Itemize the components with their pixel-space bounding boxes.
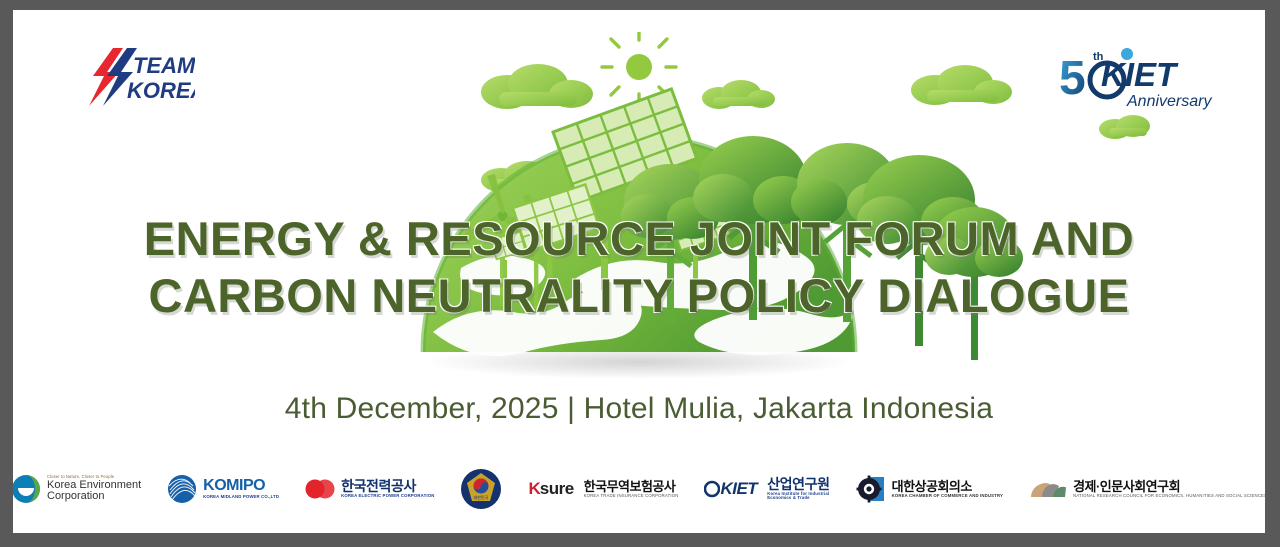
cloud-icon	[1099, 115, 1150, 139]
korea-government-emblem-icon: 대한민국	[460, 468, 502, 510]
cloud-icon	[481, 64, 593, 109]
sponsor-subtitle: KOREA MIDLAND POWER CO.,LTD	[203, 495, 279, 500]
komipo-mark-icon	[167, 474, 197, 504]
sponsor-name-line2: Corporation	[47, 491, 141, 503]
sponsor-logo-korea-environment-corporation: Closer to Nature, Closer to People Korea…	[13, 467, 141, 511]
event-banner: TEAM KOREA 5 th KIET Anniversary	[13, 10, 1265, 533]
sponsor-logo-strip: Closer to Nature, Closer to People Korea…	[13, 467, 1265, 511]
sponsor-logo-korea-government-emblem: 대한민국	[460, 467, 502, 511]
korcham-mark-icon	[856, 474, 886, 504]
cloud-icon	[481, 161, 564, 192]
screenshot-root: TEAM KOREA 5 th KIET Anniversary	[0, 0, 1280, 547]
globe-shadow	[424, 345, 854, 379]
sponsor-logo-komipo: KOMIPO KOREA MIDLAND POWER CO.,LTD	[167, 467, 279, 511]
sponsor-subtitle-line2: Economics & Trade	[767, 496, 829, 501]
sponsor-name: KIET	[720, 479, 757, 499]
sponsor-subtitle: NATIONAL RESEARCH COUNCIL FOR ECONOMICS,…	[1073, 494, 1265, 499]
sponsor-name-ko: 대한상공회의소	[892, 480, 1003, 494]
svg-text:Anniversary: Anniversary	[1126, 93, 1212, 110]
event-title-line-2: CARBON NEUTRALITY POLICY DIALOGUE	[13, 267, 1265, 324]
svg-text:5: 5	[1059, 52, 1086, 105]
sponsor-name-ko: 경제·인문사회연구회	[1073, 480, 1265, 494]
cloud-icon	[911, 65, 1012, 105]
ksure-k-letter: K	[528, 479, 539, 499]
nrc-mark-icon	[1029, 477, 1067, 501]
sponsor-logo-korcham: 대한상공회의소 KOREA CHAMBER OF COMMERCE AND IN…	[856, 467, 1003, 511]
svg-text:TEAM: TEAM	[133, 53, 195, 78]
svg-text:KIET: KIET	[1101, 56, 1179, 93]
kiet-anniversary-logo: 5 th KIET Anniversary	[1055, 42, 1225, 112]
team-korea-logo-svg: TEAM KOREA	[75, 46, 195, 108]
kepco-mark-icon	[305, 478, 335, 500]
cloud-icon	[702, 80, 775, 109]
sponsor-subtitle: KOREA TRADE INSURANCE CORPORATION	[584, 494, 679, 499]
korea-environment-corporation-mark-icon	[13, 474, 41, 504]
event-title: ENERGY & RESOURCE JOINT FORUM AND CARBON…	[13, 210, 1265, 324]
sponsor-logo-kepco: 한국전력공사 KOREA ELECTRIC POWER CORPORATION	[305, 467, 434, 511]
ksure-sure-letters: sure	[540, 479, 574, 499]
svg-text:KOREA: KOREA	[127, 78, 195, 103]
sponsor-name-ko: 산업연구원	[767, 477, 829, 492]
kiet-anniversary-logo-svg: 5 th KIET Anniversary	[1055, 42, 1225, 112]
sun-icon	[602, 32, 676, 104]
event-title-line-1: ENERGY & RESOURCE JOINT FORUM AND	[13, 210, 1265, 267]
sponsor-logo-kiet: KIET 산업연구원 Korea Institute for Industria…	[704, 467, 829, 511]
sponsor-logo-ksure: K sure 한국무역보험공사 KOREA TRADE INSURANCE CO…	[528, 467, 678, 511]
sponsor-name: KOMIPO	[203, 478, 279, 495]
sponsor-subtitle: KOREA ELECTRIC POWER CORPORATION	[341, 494, 434, 499]
sponsor-name-ko: 한국전력공사	[341, 479, 434, 494]
sponsor-name-ko: 한국무역보험공사	[584, 480, 679, 494]
sponsor-logo-nrc: 경제·인문사회연구회 NATIONAL RESEARCH COUNCIL FOR…	[1029, 467, 1265, 511]
sponsor-subtitle: KOREA CHAMBER OF COMMERCE AND INDUSTRY	[892, 494, 1003, 499]
team-korea-logo: TEAM KOREA	[75, 46, 195, 108]
event-date-venue: 4th December, 2025 | Hotel Mulia, Jakart…	[13, 392, 1265, 426]
kiet-mark-icon	[704, 478, 720, 500]
svg-text:대한민국: 대한민국	[474, 494, 489, 500]
